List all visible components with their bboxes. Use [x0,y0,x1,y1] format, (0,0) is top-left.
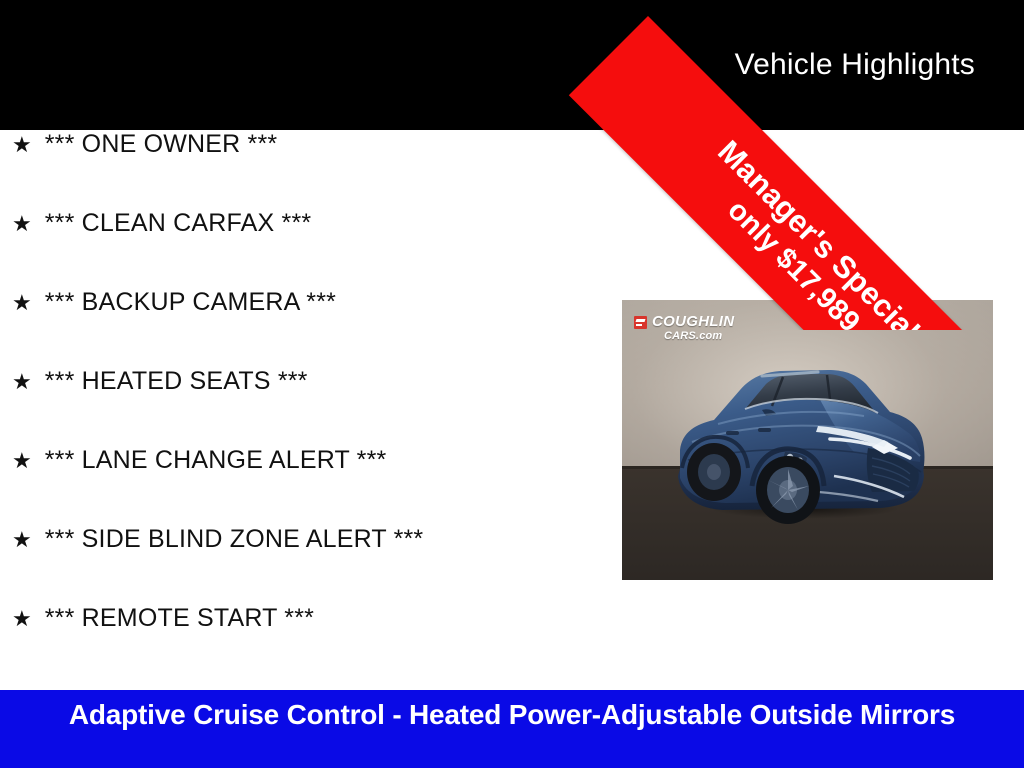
dealer-name: COUGHLIN [652,314,734,329]
list-item: ★ *** HEATED SEATS *** [0,367,600,446]
vehicle-highlights-page: Vehicle Highlights Manager's Special onl… [0,0,1024,768]
highlight-text: *** CLEAN CARFAX *** [45,209,312,238]
footer-banner: Adaptive Cruise Control - Heated Power-A… [0,690,1024,768]
highlight-text: *** SIDE BLIND ZONE ALERT *** [45,525,424,554]
dealer-watermark-text: COUGHLIN CARS.com [652,314,734,342]
star-icon: ★ [12,292,32,314]
star-icon: ★ [12,134,32,156]
highlight-text: *** HEATED SEATS *** [45,367,308,396]
list-item: ★ *** LANE CHANGE ALERT *** [0,446,600,525]
list-item: ★ *** ONE OWNER *** [0,130,600,209]
page-title: Vehicle Highlights [735,47,975,83]
highlight-text: *** ONE OWNER *** [45,130,278,159]
star-icon: ★ [12,213,32,235]
highlight-text: *** BACKUP CAMERA *** [45,288,336,317]
dealer-watermark: COUGHLIN CARS.com [634,314,734,342]
vehicle-illustration [622,300,993,580]
footer-text: Adaptive Cruise Control - Heated Power-A… [32,696,992,734]
star-icon: ★ [12,450,32,472]
star-icon: ★ [12,371,32,393]
star-icon: ★ [12,608,32,630]
highlights-list: ★ *** ONE OWNER *** ★ *** CLEAN CARFAX *… [0,130,600,683]
list-item: ★ *** CLEAN CARFAX *** [0,209,600,288]
star-icon: ★ [12,529,32,551]
highlight-text: *** REMOTE START *** [45,604,314,633]
highlight-text: *** LANE CHANGE ALERT *** [45,446,387,475]
list-item: ★ *** SIDE BLIND ZONE ALERT *** [0,525,600,604]
coughlin-mark-icon [634,316,647,329]
dealer-sub: CARS.com [664,331,722,342]
list-item: ★ *** REMOTE START *** [0,604,600,683]
list-item: ★ *** BACKUP CAMERA *** [0,288,600,367]
vehicle-photo: COUGHLIN CARS.com [622,300,993,580]
